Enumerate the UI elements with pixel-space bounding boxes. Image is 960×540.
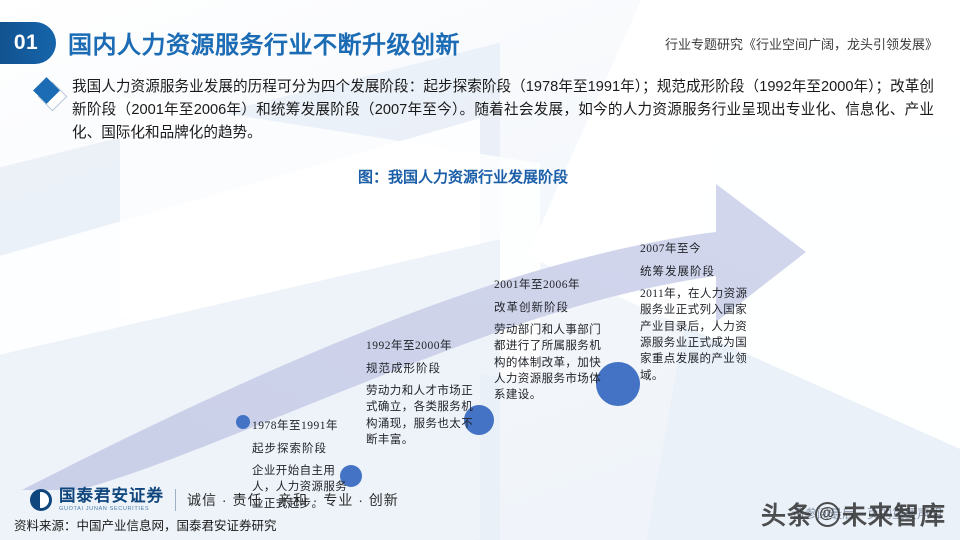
company-slogan: 诚信 · 责任 · 亲和 · 专业 · 创新 [187, 490, 399, 510]
section-number-badge: 01 [0, 22, 56, 64]
watermark-at-icon: @ [815, 502, 840, 527]
stage-3-desc: 劳动部门和人事部门都进行了所属服务机构的体制改革，加快人力资源服务市场体系建设。 [494, 322, 606, 404]
stage-4-desc: 2011年，在人力资源服务业正式列入国家产业目录后，人力资源服务业正式成为国家重… [640, 286, 752, 384]
slide-header: 01 国内人力资源服务行业不断升级创新 行业专题研究《行业空间广阔，龙头引领发展… [0, 22, 960, 66]
report-reference: 行业专题研究《行业空间广阔，龙头引领发展》 [665, 34, 938, 53]
stage-block-4: 2007年至今 统筹发展阶段 2011年，在人力资源服务业正式列入国家产业目录后… [640, 240, 752, 384]
stage-block-2: 1992年至2000年 规范成形阶段 劳动力和人才市场正式确立，各类服务机构涌现… [366, 337, 474, 448]
stage-block-3: 2001年至2006年 改革创新阶段 劳动部门和人事部门都进行了所属服务机构的体… [494, 276, 606, 404]
logo-text-group: 国泰君安证券 GUOTAI JUNAN SECURITIES [59, 488, 164, 512]
guotai-junan-logo-icon [30, 489, 52, 511]
watermark: 头条 @ 未来智库 [761, 496, 946, 532]
stage-2-name: 规范成形阶段 [366, 360, 474, 376]
watermark-left-text: 头条 [761, 496, 813, 532]
stage-4-year: 2007年至今 [640, 240, 752, 256]
stage-1-year: 1978年至1991年 [252, 417, 350, 433]
slide-canvas: 01 国内人力资源服务行业不断升级创新 行业专题研究《行业空间广阔，龙头引领发展… [0, 0, 960, 540]
watermark-right-text: 未来智库 [842, 496, 946, 532]
stage-1-name: 起步探索阶段 [252, 440, 350, 456]
page-title: 国内人力资源服务行业不断升级创新 [68, 25, 460, 60]
summary-bullet-text: 我国人力资源服务业发展的历程可分为四个发展阶段：起步探索阶段（1978年至199… [72, 76, 934, 145]
stage-3-name: 改革创新阶段 [494, 299, 606, 315]
logo-divider [175, 489, 176, 511]
slide-footer: 国泰君安证券 GUOTAI JUNAN SECURITIES 诚信 · 责任 ·… [0, 482, 960, 540]
logo-english-name: GUOTAI JUNAN SECURITIES [59, 507, 164, 513]
stage-3-year: 2001年至2006年 [494, 276, 606, 292]
logo-chinese-name: 国泰君安证券 [59, 488, 164, 505]
chart-title: 图：我国人力资源行业发展阶段 [358, 166, 568, 187]
ascending-arrow-shape [0, 140, 960, 490]
timeline-diagram: 图：我国人力资源行业发展阶段 1978年至1991年 起步探索阶段 企业开始自主… [0, 140, 960, 490]
stage-2-year: 1992年至2000年 [366, 337, 474, 353]
stage-2-desc: 劳动力和人才市场正式确立，各类服务机构涌现，服务也太不断丰富。 [366, 383, 474, 448]
source-note: 资料来源：中国产业信息网，国泰君安证券研究 [14, 515, 277, 534]
summary-bullet: 我国人力资源服务业发展的历程可分为四个发展阶段：起步探索阶段（1978年至199… [34, 76, 934, 145]
stage-4-name: 统筹发展阶段 [640, 263, 752, 279]
company-logo: 国泰君安证券 GUOTAI JUNAN SECURITIES 诚信 · 责任 ·… [30, 488, 399, 512]
stage-node-1 [236, 415, 250, 429]
diamond-bullet-icon [34, 78, 68, 112]
